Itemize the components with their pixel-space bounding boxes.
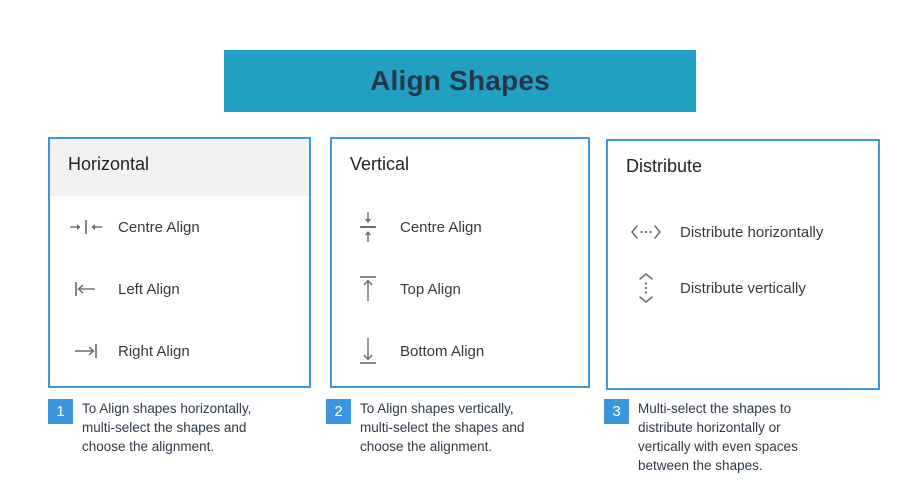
caption-2-line-1: To Align shapes vertically,	[360, 399, 524, 418]
row-label-distribute-vertically: Distribute vertically	[680, 280, 806, 297]
align-centre-vertical-icon	[346, 210, 390, 244]
caption-1-line-1: To Align shapes horizontally,	[82, 399, 251, 418]
row-centre-align-horizontal[interactable]: Centre Align	[64, 196, 309, 258]
step-badge-1: 1	[48, 399, 73, 424]
step-badge-2: 2	[326, 399, 351, 424]
caption-3-line-2: distribute horizontally or	[638, 418, 798, 437]
align-centre-horizontal-icon	[64, 219, 108, 235]
card-horizontal-body: Centre Align Left Align	[50, 196, 309, 382]
caption-2-line-2: multi-select the shapes and	[360, 418, 524, 437]
card-distribute-body: Distribute horizontally Distribute verti…	[608, 198, 878, 316]
caption-3-text: Multi-select the shapes to distribute ho…	[638, 399, 798, 475]
caption-3-line-3: vertically with even spaces	[638, 437, 798, 456]
caption-3-line-1: Multi-select the shapes to	[638, 399, 798, 418]
card-distribute: Distribute Distribute horizontally	[606, 139, 880, 390]
align-bottom-icon	[346, 334, 390, 368]
row-label-centre-align-vertical: Centre Align	[400, 219, 482, 236]
row-right-align[interactable]: Right Align	[64, 320, 309, 382]
distribute-vertical-icon	[624, 271, 668, 305]
align-left-icon	[64, 281, 108, 297]
row-label-left-align: Left Align	[118, 281, 180, 298]
row-label-centre-align-horizontal: Centre Align	[118, 219, 200, 236]
step-badge-3: 3	[604, 399, 629, 424]
row-centre-align-vertical[interactable]: Centre Align	[346, 196, 588, 258]
caption-2-text: To Align shapes vertically, multi-select…	[360, 399, 524, 456]
row-top-align[interactable]: Top Align	[346, 258, 588, 320]
card-distribute-header: Distribute	[608, 141, 878, 198]
caption-1-line-3: choose the alignment.	[82, 437, 251, 456]
title-banner: Align Shapes	[224, 50, 696, 112]
card-vertical: Vertical Centre Align	[330, 137, 590, 388]
row-label-bottom-align: Bottom Align	[400, 343, 484, 360]
caption-1-line-2: multi-select the shapes and	[82, 418, 251, 437]
row-bottom-align[interactable]: Bottom Align	[346, 320, 588, 382]
page-title: Align Shapes	[370, 67, 550, 95]
caption-1-text: To Align shapes horizontally, multi-sele…	[82, 399, 251, 456]
card-horizontal-header: Horizontal	[50, 139, 309, 196]
align-top-icon	[346, 272, 390, 306]
row-distribute-horizontally[interactable]: Distribute horizontally	[624, 204, 878, 260]
caption-3: 3 Multi-select the shapes to distribute …	[604, 399, 894, 475]
caption-2: 2 To Align shapes vertically, multi-sele…	[326, 399, 596, 456]
card-vertical-header: Vertical	[332, 139, 588, 196]
card-vertical-title: Vertical	[350, 154, 409, 174]
caption-2-line-3: choose the alignment.	[360, 437, 524, 456]
row-label-top-align: Top Align	[400, 281, 461, 298]
caption-3-line-4: between the shapes.	[638, 456, 798, 475]
card-horizontal: Horizontal Centre Align	[48, 137, 311, 388]
distribute-horizontal-icon	[624, 223, 668, 241]
card-distribute-title: Distribute	[626, 156, 702, 176]
card-horizontal-title: Horizontal	[68, 154, 149, 174]
caption-1: 1 To Align shapes horizontally, multi-se…	[48, 399, 320, 456]
row-left-align[interactable]: Left Align	[64, 258, 309, 320]
row-distribute-vertically[interactable]: Distribute vertically	[624, 260, 878, 316]
row-label-right-align: Right Align	[118, 343, 190, 360]
align-right-icon	[64, 343, 108, 359]
card-vertical-body: Centre Align Top Align	[332, 196, 588, 382]
row-label-distribute-horizontally: Distribute horizontally	[680, 224, 823, 241]
